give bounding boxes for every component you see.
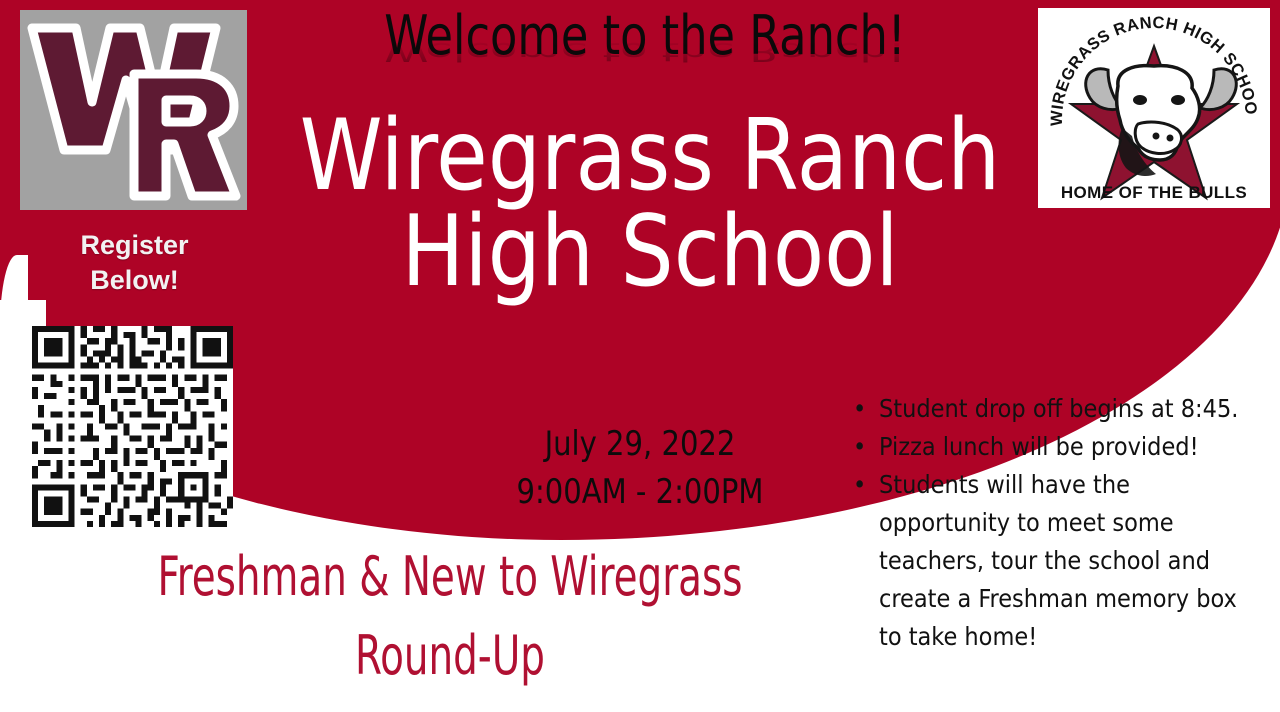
list-item: • Pizza lunch will be provided!: [845, 428, 1253, 466]
event-details-list: • Student drop off begins at 8:45. • Piz…: [845, 390, 1253, 656]
school-name-line2: High School: [270, 204, 1030, 300]
seal-bottom-text: HOME OF THE BULLS: [1061, 183, 1247, 202]
school-seal-logo: WIREGRASS RANCH HIGH SCHOOL HOME OF THE …: [1038, 8, 1270, 208]
wr-monogram-logo: [20, 10, 247, 210]
list-item: • Students will have the opportunity to …: [845, 466, 1253, 656]
register-line2: Below!: [22, 263, 247, 298]
school-name-title: Wiregrass Ranch High School: [270, 108, 1030, 300]
bullet-icon: •: [853, 390, 866, 428]
list-item: • Student drop off begins at 8:45.: [845, 390, 1253, 428]
event-date: July 29, 2022: [431, 420, 849, 468]
welcome-headline-reflection: Welcome to the Ranch!: [277, 39, 1013, 65]
list-item-text: Pizza lunch will be provided!: [879, 432, 1199, 461]
bullet-icon: •: [853, 428, 866, 466]
list-item-text: Students will have the opportunity to me…: [879, 470, 1237, 651]
qr-code-icon[interactable]: [32, 326, 233, 527]
event-title: Freshman & New to Wiregrass Round-Up: [106, 538, 794, 696]
bull-seal-icon: WIREGRASS RANCH HIGH SCHOOL HOME OF THE …: [1038, 8, 1270, 208]
register-callout: Register Below!: [22, 228, 247, 297]
list-item-text: Student drop off begins at 8:45.: [879, 394, 1238, 423]
poster-canvas: Welcome to the Ranch! Welcome to the Ran…: [0, 0, 1280, 712]
event-time: 9:00AM - 2:00PM: [431, 468, 849, 516]
event-title-line2: Round-Up: [106, 617, 794, 696]
register-line1: Register: [22, 228, 247, 263]
wr-monogram-icon: [20, 10, 247, 210]
bullet-icon: •: [853, 466, 866, 504]
event-title-line1: Freshman & New to Wiregrass: [106, 538, 794, 617]
registration-qr-code[interactable]: [32, 326, 233, 527]
event-datetime: July 29, 2022 9:00AM - 2:00PM: [431, 420, 849, 517]
